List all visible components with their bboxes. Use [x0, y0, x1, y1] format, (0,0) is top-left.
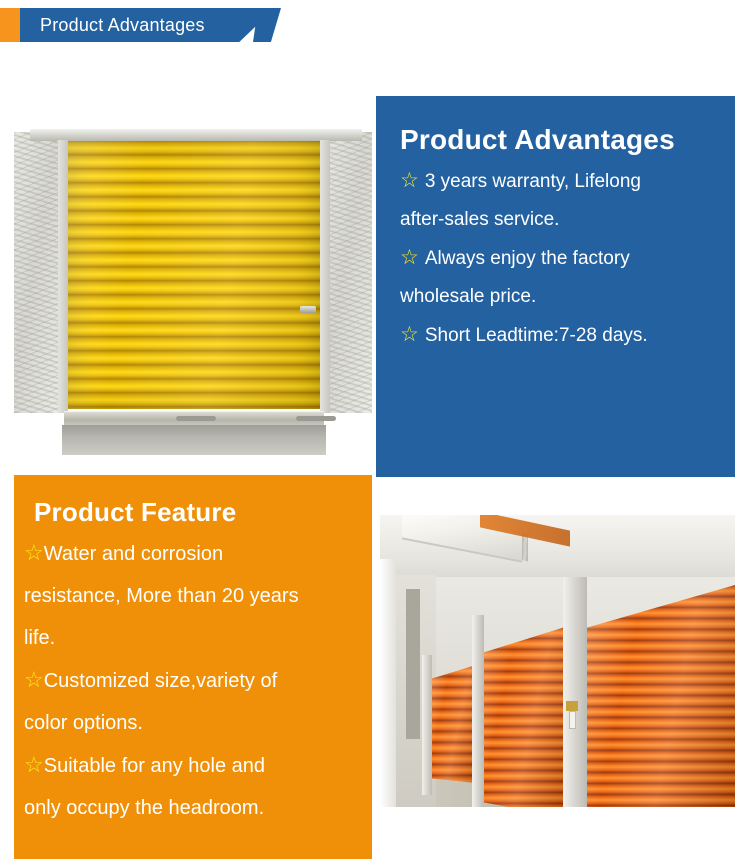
door-jamb-right	[320, 140, 330, 413]
advantage-item-3-text-1: Short Leadtime:7-28 days.	[425, 325, 648, 346]
yellow-rolling-shutter-door-photo	[14, 118, 372, 457]
product-advantages-panel: Product Advantages ☆3 years warranty, Li…	[376, 96, 735, 477]
star-outline-icon: ☆	[400, 169, 419, 192]
advantage-item-1-text-1: 3 years warranty, Lifelong	[425, 171, 641, 192]
orange-storage-unit-doors-photo	[380, 515, 735, 807]
star-outline-icon: ☆	[24, 667, 44, 692]
concrete-floor	[62, 425, 326, 455]
door-handle	[300, 306, 316, 313]
door-lintel	[30, 128, 362, 141]
header-banner: Product Advantages	[0, 8, 300, 42]
star-outline-icon: ☆	[24, 752, 44, 777]
stone-wall-left	[14, 132, 62, 413]
advantage-item-2-line-1: ☆Always enjoy the factory	[400, 239, 717, 278]
advantage-item-2-text-1: Always enjoy the factory	[425, 248, 630, 269]
feature-item-1-line-3: life.	[24, 617, 362, 659]
banner-accent-block	[0, 8, 20, 42]
door-lock-icon	[566, 701, 578, 711]
feature-item-1-line-2: resistance, More than 20 years	[24, 575, 362, 617]
feature-item-2-line-1: ☆Customized size,variety of	[24, 659, 362, 702]
product-feature-panel: Product Feature ☆Water and corrosion res…	[14, 475, 372, 859]
wall-column-far	[422, 655, 432, 795]
door-jamb-left	[58, 140, 68, 413]
yellow-shutter-curtain	[68, 141, 320, 409]
advantage-item-2-line-2: wholesale price.	[400, 278, 717, 316]
advantage-item-1-line-2: after-sales service.	[400, 201, 717, 239]
shutter-gloss	[480, 627, 565, 807]
orange-shutter-door-far	[430, 665, 476, 783]
wall-column-near	[563, 577, 587, 807]
feature-item-3-line-1: ☆Suitable for any hole and	[24, 744, 362, 787]
feature-item-1-text-1: Water and corrosion	[44, 543, 223, 565]
wall-column-edge	[380, 559, 396, 807]
star-outline-icon: ☆	[24, 540, 44, 565]
door-latch-left	[176, 416, 216, 421]
feature-item-3-text-1: Suitable for any hole and	[44, 755, 265, 777]
star-outline-icon: ☆	[400, 246, 419, 269]
advantage-item-3-line-1: ☆Short Leadtime:7-28 days.	[400, 316, 717, 355]
star-outline-icon: ☆	[400, 323, 419, 346]
feature-title: Product Feature	[34, 497, 362, 528]
wall-column-mid	[472, 615, 484, 807]
advantage-item-1-line-1: ☆3 years warranty, Lifelong	[400, 162, 717, 201]
door-latch-right	[296, 416, 336, 421]
feature-item-1-line-1: ☆Water and corrosion	[24, 532, 362, 575]
shutter-gloss	[430, 665, 476, 783]
feature-item-2-text-1: Customized size,variety of	[44, 670, 277, 692]
stone-wall-right	[324, 132, 372, 413]
banner-title: Product Advantages	[40, 8, 205, 42]
door-latch-plate	[569, 711, 576, 729]
feature-item-2-line-2: color options.	[24, 702, 362, 744]
orange-shutter-door-mid	[480, 627, 565, 807]
feature-item-3-line-2: only occupy the headroom.	[24, 787, 362, 829]
far-doorway	[406, 589, 420, 739]
advantages-title: Product Advantages	[400, 124, 717, 156]
